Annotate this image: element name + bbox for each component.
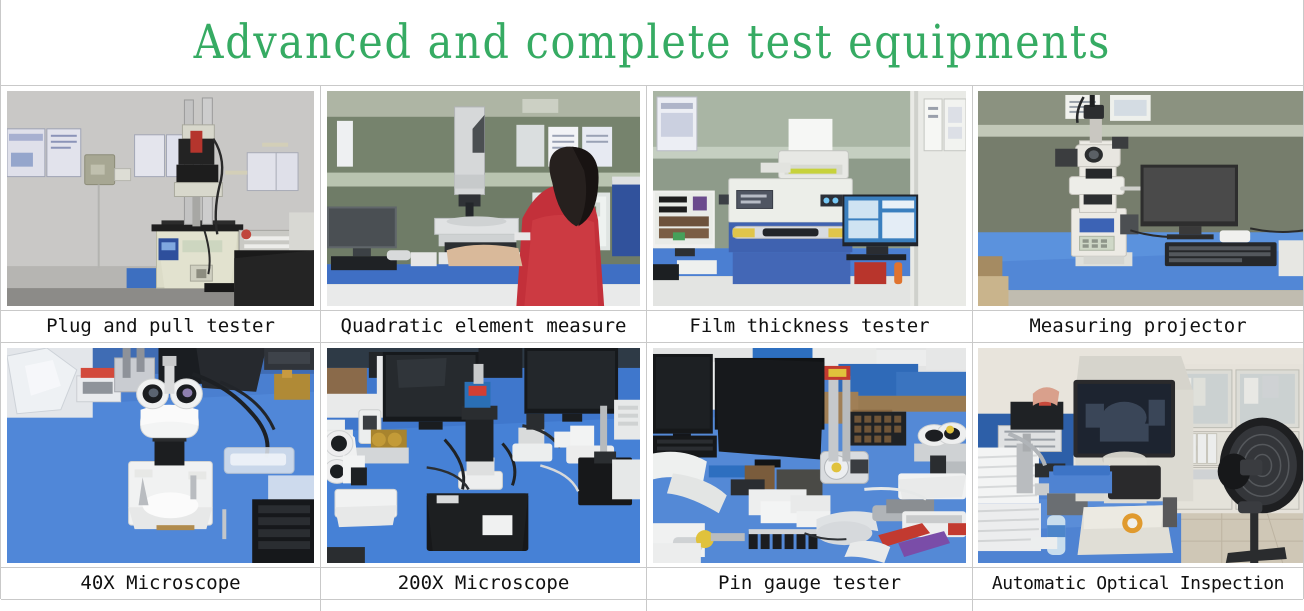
caption-cell-8: Automatic Optical Inspection [973, 568, 1303, 600]
caption-cell-4: Measuring projector [973, 311, 1303, 343]
trailing-cell-2 [321, 600, 647, 611]
measuring-projector-photo [978, 91, 1303, 306]
trailing-cell-3 [647, 600, 973, 611]
quadratic-element-measure-photo [327, 91, 640, 306]
caption-label: Automatic Optical Inspection [992, 575, 1284, 593]
200x-microscope-photo [327, 348, 640, 563]
gallery-cell-2[interactable] [321, 86, 647, 311]
equipment-gallery-page: Advanced and complete test equipments [0, 0, 1304, 599]
caption-label: 200X Microscope [398, 574, 570, 593]
caption-label: 40X Microscope [80, 574, 240, 593]
gallery-row-2-images [1, 343, 1303, 568]
film-thickness-tester-photo [653, 91, 966, 306]
caption-cell-2: Quadratic element measure [321, 311, 647, 343]
trailing-cell-4 [973, 600, 1303, 611]
gallery-cell-3[interactable] [647, 86, 973, 311]
gallery-trailing-row [1, 600, 1303, 611]
caption-label: Plug and pull tester [46, 317, 275, 336]
gallery-row-2-captions: 40X Microscope 200X Microscope Pin gauge… [1, 568, 1303, 600]
caption-cell-6: 200X Microscope [321, 568, 647, 600]
40x-microscope-photo [7, 348, 314, 563]
gallery-cell-1[interactable] [1, 86, 321, 311]
caption-label: Quadratic element measure [341, 317, 627, 336]
caption-cell-5: 40X Microscope [1, 568, 321, 600]
gallery-cell-5[interactable] [1, 343, 321, 568]
caption-label: Measuring projector [1029, 317, 1246, 336]
gallery-cell-7[interactable] [647, 343, 973, 568]
page-title: Advanced and complete test equipments [193, 19, 1111, 66]
pin-gauge-tester-photo [653, 348, 966, 563]
caption-label: Pin gauge tester [718, 574, 901, 593]
caption-cell-1: Plug and pull tester [1, 311, 321, 343]
gallery-cell-4[interactable] [973, 86, 1303, 311]
caption-label: Film thickness tester [689, 317, 929, 336]
gallery-row-1-captions: Plug and pull tester Quadratic element m… [1, 311, 1303, 343]
plug-and-pull-tester-photo [7, 91, 314, 306]
automatic-optical-inspection-photo [978, 348, 1303, 563]
trailing-cell-1 [1, 600, 321, 611]
gallery-cell-6[interactable] [321, 343, 647, 568]
caption-cell-7: Pin gauge tester [647, 568, 973, 600]
gallery-cell-8[interactable] [973, 343, 1303, 568]
page-header: Advanced and complete test equipments [1, 0, 1303, 86]
caption-cell-3: Film thickness tester [647, 311, 973, 343]
gallery-row-1-images [1, 86, 1303, 311]
